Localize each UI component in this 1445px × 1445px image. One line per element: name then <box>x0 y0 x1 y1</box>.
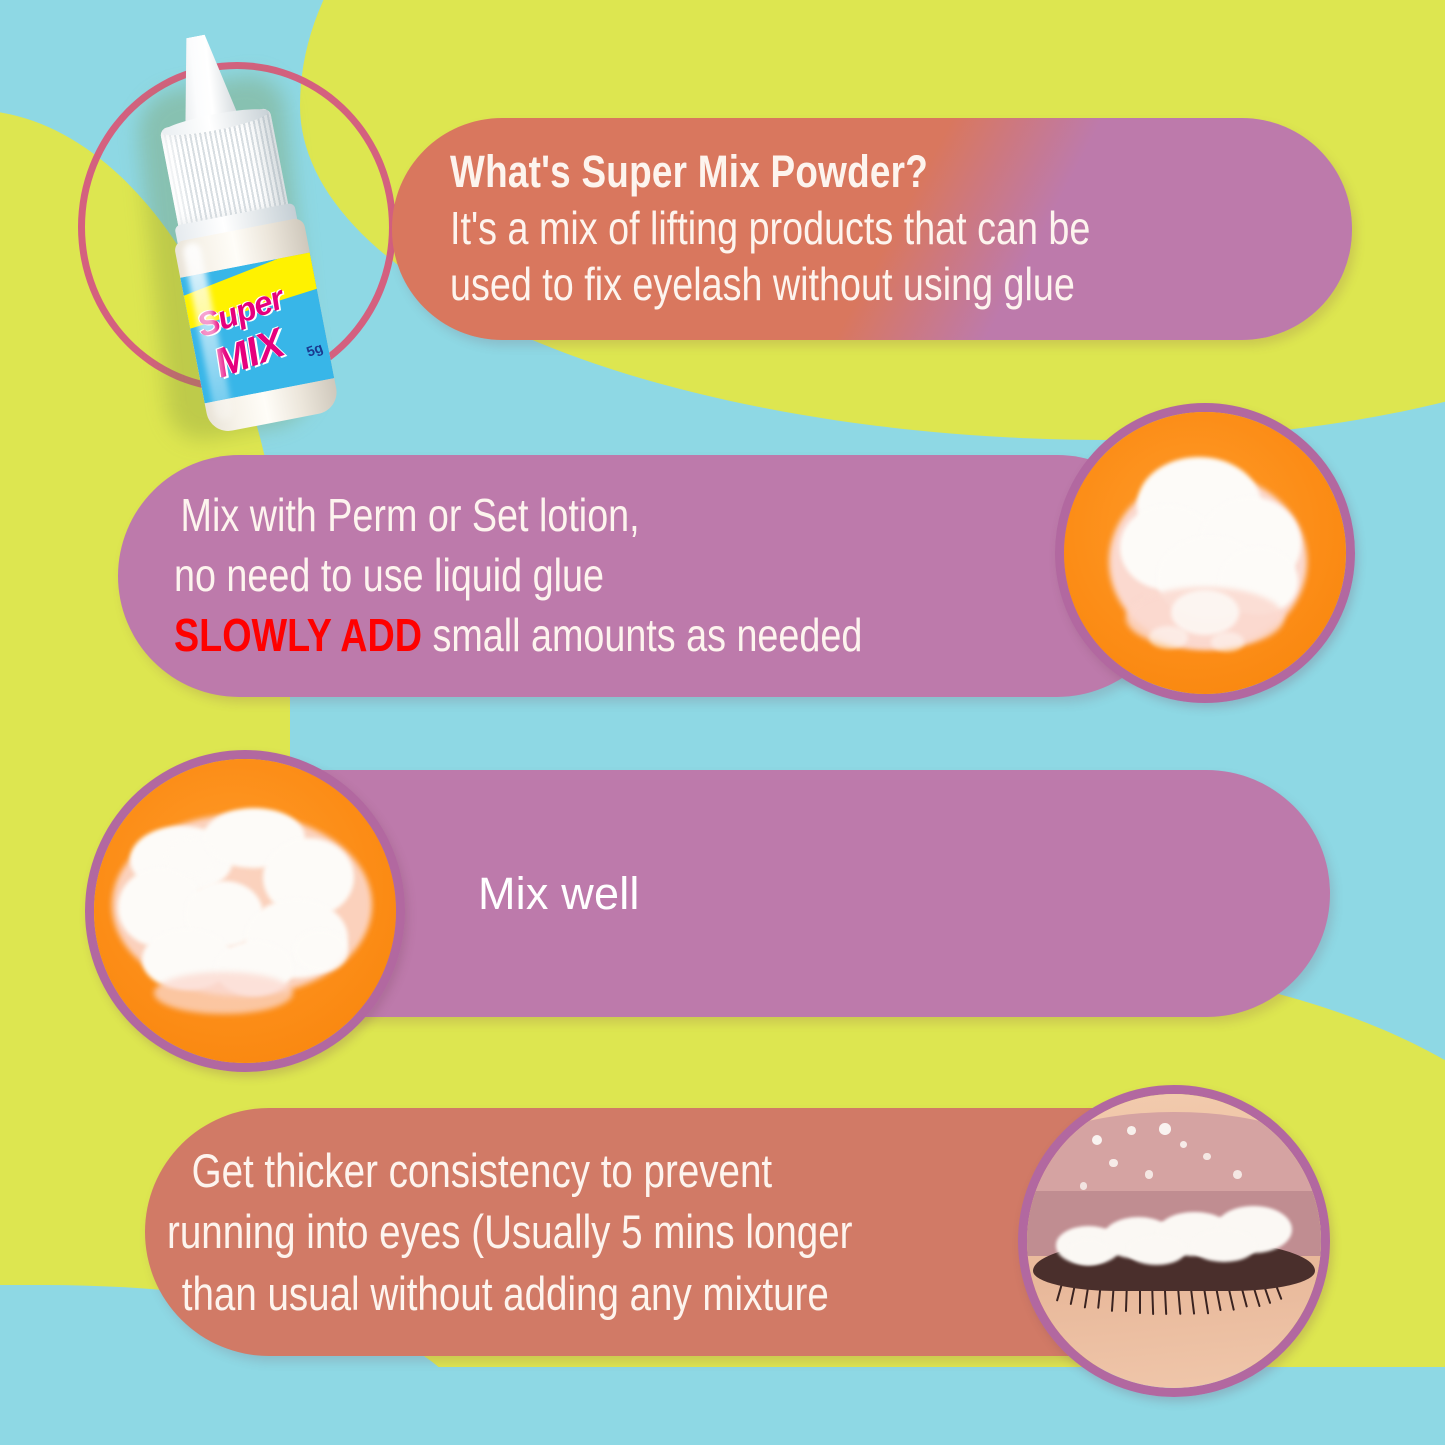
section-thicker-consistency-line-1: Get thicker consistency to prevent <box>167 1140 1104 1201</box>
photo-eye-lashes-image <box>1027 1094 1321 1388</box>
slowly-add-emphasis: SLOWLY ADD <box>174 609 422 661</box>
photo-foam-clump <box>1055 403 1355 703</box>
section-mix-with-lotion-line-3-rest: small amounts as needed <box>422 609 862 661</box>
photo-foam-spread-image <box>94 759 396 1063</box>
section-thicker-consistency-line-2: running into eyes (Usually 5 mins longer <box>167 1201 1104 1262</box>
section-mix-with-lotion-line-3: SLOWLY ADD small amounts as needed <box>174 606 997 666</box>
infographic-poster: What's Super Mix Powder? It's a mix of l… <box>0 0 1445 1445</box>
section-what-is-line-2: used to fix eyelash without using glue <box>450 256 1190 312</box>
section-thicker-consistency-line-3: than usual without adding any mixture <box>167 1263 1104 1324</box>
section-mix-with-lotion-line-2: no need to use liquid glue <box>174 546 997 606</box>
section-mix-with-lotion-panel: Mix with Perm or Set lotion, no need to … <box>118 455 1178 697</box>
section-mix-with-lotion-line-1: Mix with Perm or Set lotion, <box>174 486 997 546</box>
photo-eye-lashes <box>1018 1085 1330 1397</box>
photo-foam-spread <box>85 750 405 1072</box>
photo-foam-clump-image <box>1064 412 1346 694</box>
section-what-is-panel: What's Super Mix Powder? It's a mix of l… <box>392 118 1352 340</box>
section-what-is-headline: What's Super Mix Powder? <box>450 146 1190 197</box>
section-what-is-line-1: It's a mix of lifting products that can … <box>450 200 1190 256</box>
section-mix-well-text: Mix well <box>478 868 640 920</box>
